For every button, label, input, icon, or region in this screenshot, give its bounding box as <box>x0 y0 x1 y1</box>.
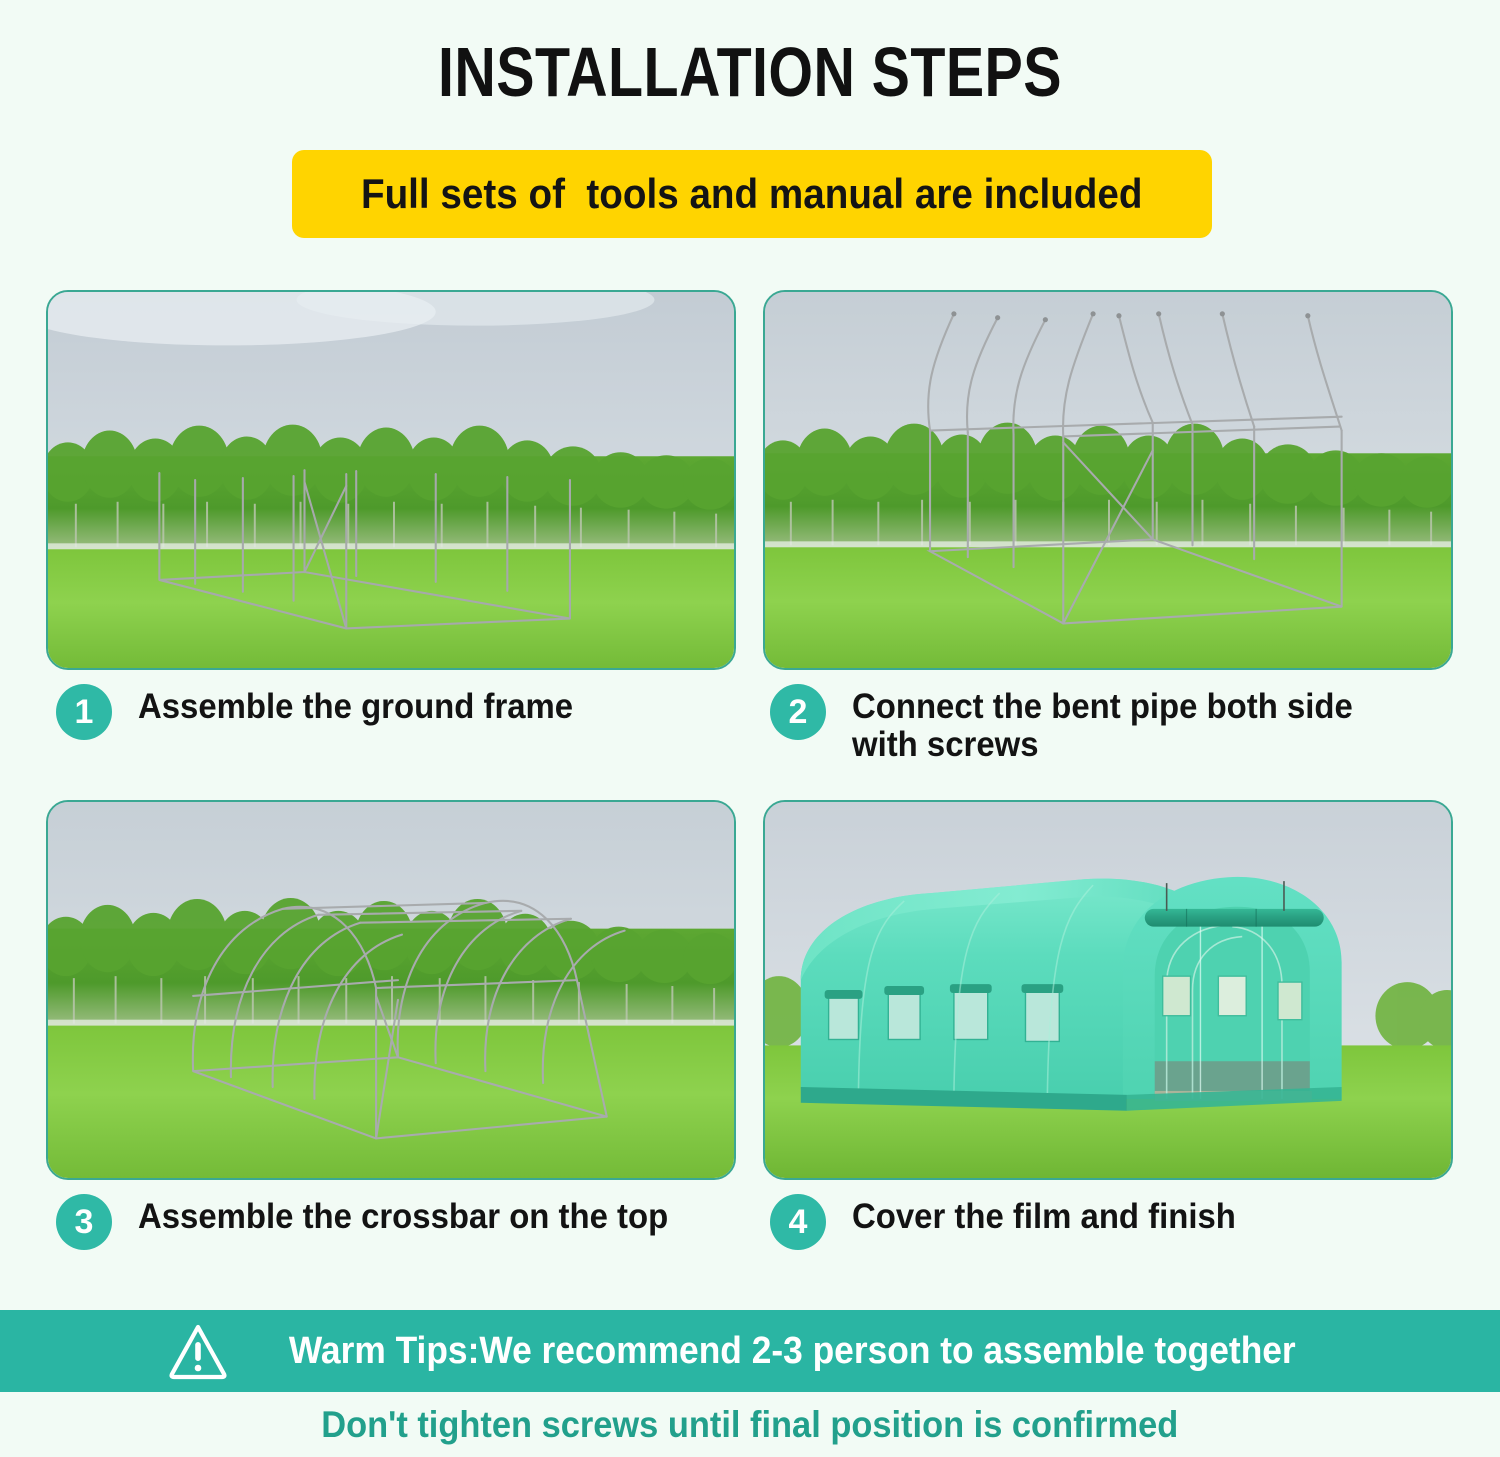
step-3-label: Assemble the crossbar on the top <box>138 1192 668 1236</box>
banner-text: Full sets of tools and manual are includ… <box>361 170 1143 218</box>
step-3-photo <box>46 800 736 1180</box>
step-3-badge: 3 <box>56 1194 112 1250</box>
step-3-illustration <box>48 802 734 1178</box>
step-2-label: Connect the bent pipe both side with scr… <box>852 682 1424 764</box>
warm-tips-text: Warm Tips:We recommend 2-3 person to ass… <box>289 1330 1296 1373</box>
warning-triangle-icon <box>167 1322 229 1380</box>
step-4-label: Cover the film and finish <box>852 1192 1236 1236</box>
step-3-caption: 3 Assemble the crossbar on the top <box>56 1192 736 1250</box>
step-1-photo <box>46 290 736 670</box>
step-1-badge: 1 <box>56 684 112 740</box>
step-4-badge: 4 <box>770 1194 826 1250</box>
page-title: INSTALLATION STEPS <box>135 32 1365 112</box>
step-2-caption: 2 Connect the bent pipe both side with s… <box>770 682 1460 764</box>
step-4-illustration <box>765 802 1451 1178</box>
step-1-caption: 1 Assemble the ground frame <box>56 682 736 740</box>
step-4-caption: 4 Cover the film and finish <box>770 1192 1460 1250</box>
tools-included-banner: Full sets of tools and manual are includ… <box>292 150 1212 238</box>
footer-note: Don't tighten screws until final positio… <box>0 1404 1500 1446</box>
step-4-photo <box>763 800 1453 1180</box>
warm-tips-bar: Warm Tips:We recommend 2-3 person to ass… <box>0 1310 1500 1392</box>
step-1-illustration <box>48 292 734 668</box>
step-2-badge: 2 <box>770 684 826 740</box>
step-1-label: Assemble the ground frame <box>138 682 573 726</box>
step-2-illustration <box>765 292 1451 668</box>
step-2-photo <box>763 290 1453 670</box>
footer-note-text: Don't tighten screws until final positio… <box>321 1404 1178 1446</box>
